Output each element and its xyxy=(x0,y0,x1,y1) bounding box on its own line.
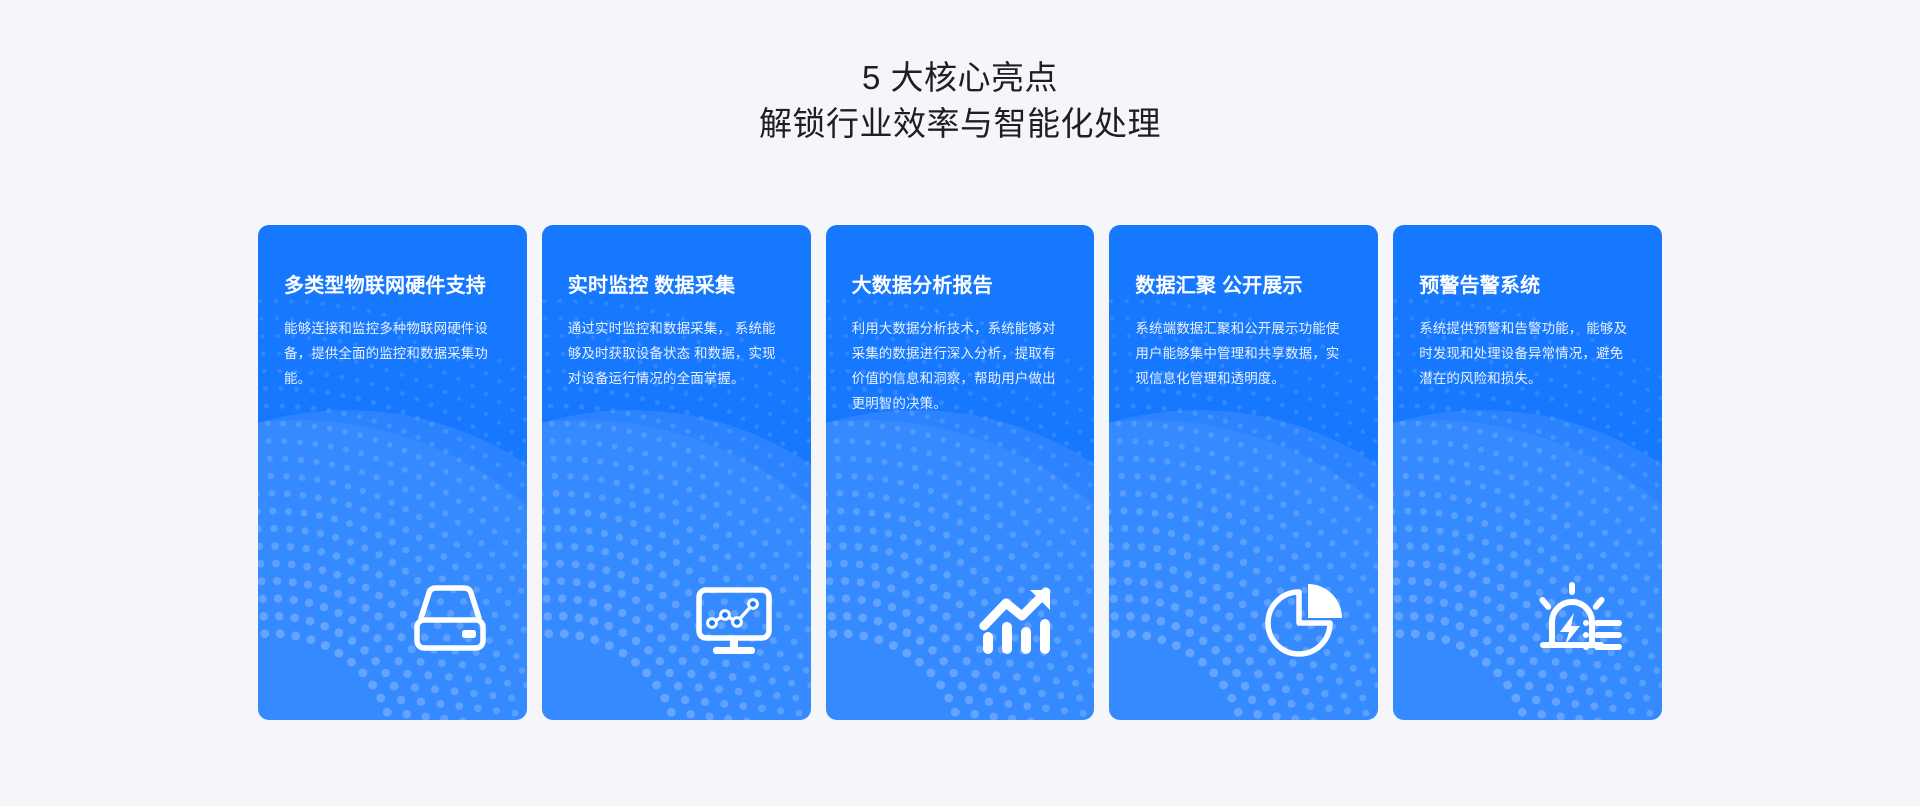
feature-card-description: 系统提供预警和告警功能， 能够及时发现和处理设备异常情况，避免潜在的风险和损失。 xyxy=(1419,317,1636,392)
feature-card-description: 利用大数据分析技术，系统能够对采集的数据进行深入分析，提取有价值的信息和洞察，帮… xyxy=(852,317,1069,417)
page-title: 5 大核心亮点 解锁行业效率与智能化处理 xyxy=(759,55,1161,146)
feature-card[interactable]: 多类型物联网硬件支持 能够连接和监控多种物联网硬件设备，提供全面的监控和数据采集… xyxy=(258,225,527,720)
alarm-siren-icon xyxy=(1542,574,1628,660)
page-title-line-1: 5 大核心亮点 xyxy=(759,55,1161,101)
page-title-line-2: 解锁行业效率与智能化处理 xyxy=(759,101,1161,147)
feature-card[interactable]: 预警告警系统 系统提供预警和告警功能， 能够及时发现和处理设备异常情况，避免潜在… xyxy=(1393,225,1662,720)
feature-card-title: 实时监控 数据采集 xyxy=(568,273,785,299)
feature-card-description: 通过实时监控和数据采集， 系统能够及时获取设备状态 和数据，实现对设备运行情况的… xyxy=(568,317,785,392)
feature-card-title: 多类型物联网硬件支持 xyxy=(284,273,501,299)
feature-highlights-page: 5 大核心亮点 解锁行业效率与智能化处理 xyxy=(0,0,1920,806)
feature-card[interactable]: 数据汇聚 公开展示 系统端数据汇聚和公开展示功能使用户能够集中管理和共享数据，实… xyxy=(1109,225,1378,720)
feature-card-description: 能够连接和监控多种物联网硬件设备，提供全面的监控和数据采集功能。 xyxy=(284,317,501,392)
feature-card[interactable]: 实时监控 数据采集 通过实时监控和数据采集， 系统能够及时获取设备状态 和数据，… xyxy=(542,225,811,720)
feature-card-title: 预警告警系统 xyxy=(1419,273,1636,299)
bar-chart-trend-icon xyxy=(974,574,1060,660)
feature-card-title: 大数据分析报告 xyxy=(852,273,1069,299)
monitor-chart-icon xyxy=(691,574,777,660)
feature-card-title: 数据汇聚 公开展示 xyxy=(1135,273,1352,299)
feature-card[interactable]: 大数据分析报告 利用大数据分析技术，系统能够对采集的数据进行深入分析，提取有价值… xyxy=(826,225,1095,720)
pie-chart-icon xyxy=(1258,574,1344,660)
feature-card-list: 多类型物联网硬件支持 能够连接和监控多种物联网硬件设备，提供全面的监控和数据采集… xyxy=(258,225,1662,720)
feature-card-description: 系统端数据汇聚和公开展示功能使用户能够集中管理和共享数据，实现信息化管理和透明度… xyxy=(1135,317,1352,392)
server-icon xyxy=(407,574,493,660)
